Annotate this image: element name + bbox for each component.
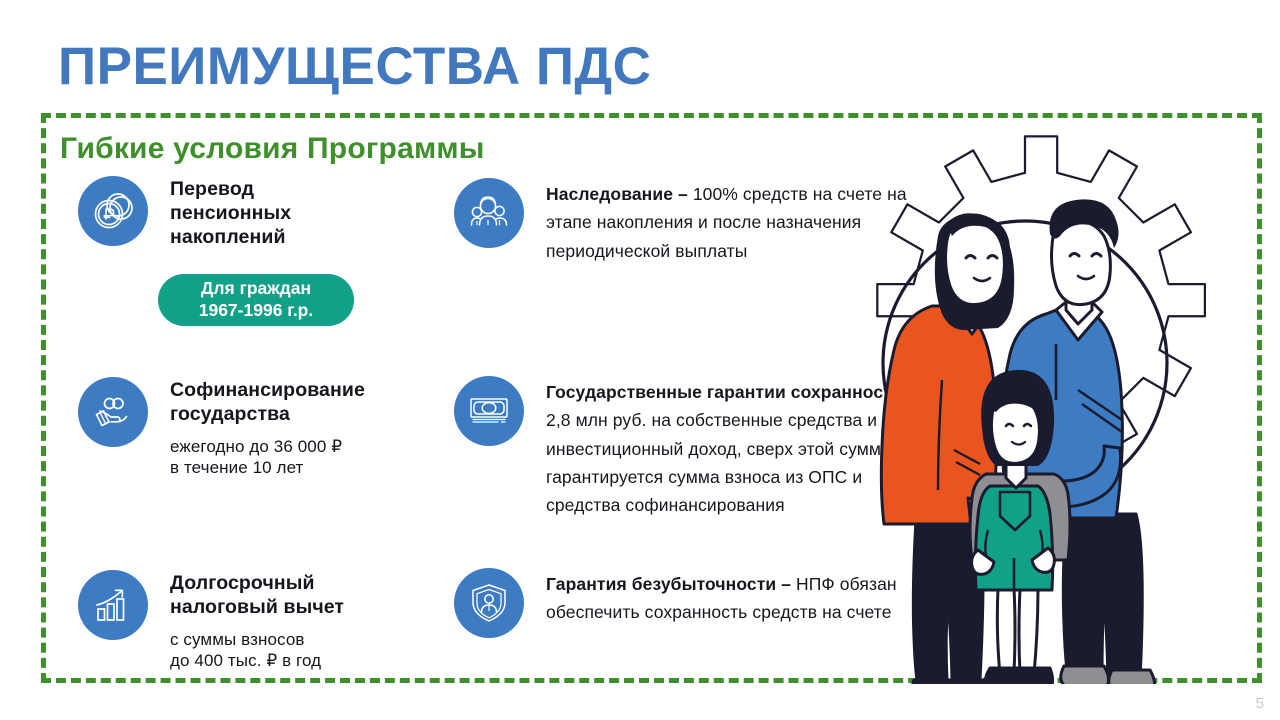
feature-state-cofinancing: Софинансирование государства ежегодно до… <box>78 377 365 479</box>
page-title: ПРЕИМУЩЕСТВА ПДС <box>58 40 651 93</box>
banknote-icon <box>454 376 524 446</box>
hand-coins-icon <box>78 377 148 447</box>
shield-person-icon <box>454 568 524 638</box>
badge-line-1: Для граждан <box>201 278 311 300</box>
family-in-gear-illustration <box>820 118 1240 684</box>
slide-root: ПРЕИМУЩЕСТВА ПДС Гибкие условия Программ… <box>0 0 1280 720</box>
status-badge-citizens-birthyears: Для граждан 1967-1996 г.р. <box>158 274 354 326</box>
feature-title: Софинансирование государства <box>170 379 365 427</box>
coins-ruble-icon <box>78 176 148 246</box>
page-number: 5 <box>1256 695 1264 712</box>
feature-text: Долгосрочный налоговый вычет с суммы взн… <box>170 570 344 672</box>
feature-long-term-tax-deduction: Долгосрочный налоговый вычет с суммы взн… <box>78 570 344 672</box>
feature-title: Долгосрочный налоговый вычет <box>170 572 344 620</box>
feature-text: Софинансирование государства ежегодно до… <box>170 377 365 479</box>
feature-text: Перевод пенсионных накоплений <box>170 176 291 249</box>
badge-line-2: 1967-1996 г.р. <box>199 300 314 322</box>
feature-transfer-pension-savings: Перевод пенсионных накоплений <box>78 176 291 249</box>
family-group-icon <box>454 178 524 248</box>
section-heading: Гибкие условия Программы <box>60 132 485 166</box>
feature-subtitle: с суммы взносов до 400 тыс. ₽ в год <box>170 629 344 673</box>
growth-chart-icon <box>78 570 148 640</box>
feature-title: Перевод пенсионных накоплений <box>170 178 291 249</box>
feature-lead: Наследование – <box>546 184 693 204</box>
feature-lead: Гарантия безубыточности – <box>546 574 796 594</box>
feature-subtitle: ежегодно до 36 000 ₽ в течение 10 лет <box>170 436 365 480</box>
